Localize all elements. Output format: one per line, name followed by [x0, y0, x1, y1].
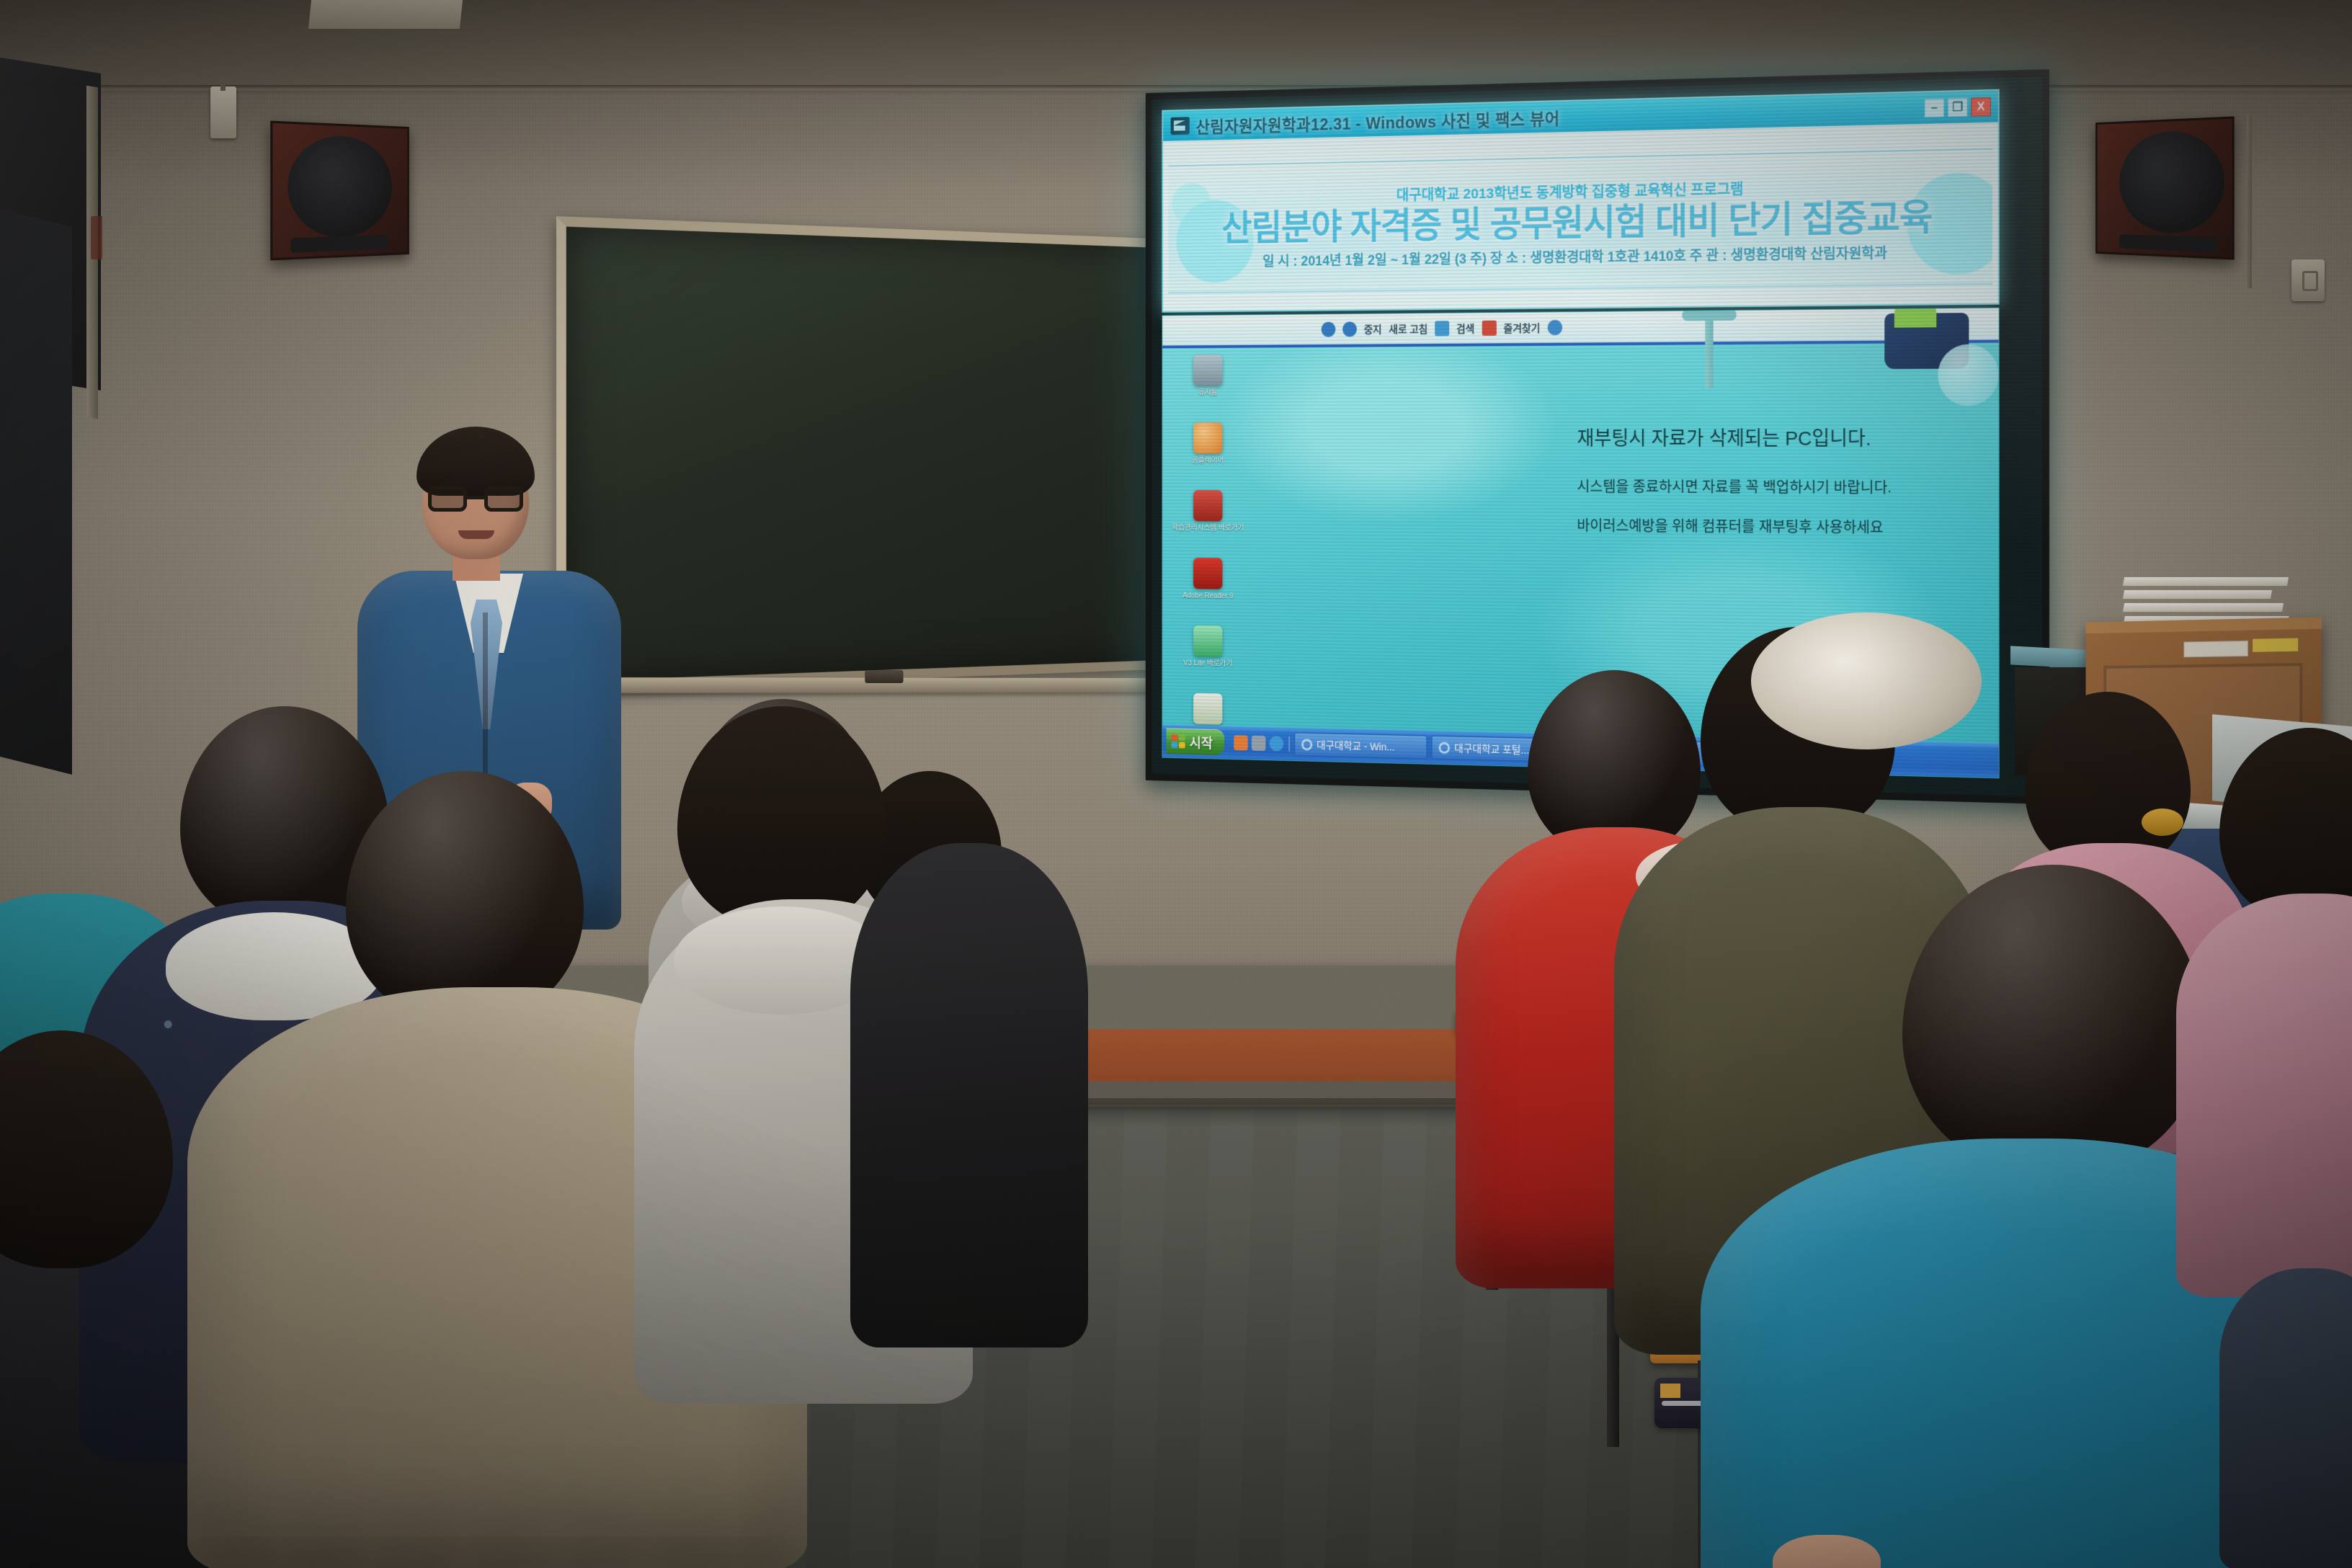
desktop-warning-text: 재부팅시 자료가 삭제되는 PC입니다. 시스템을 종료하시면 자료를 꼭 백업…: [1577, 423, 1990, 556]
quick-launch-bar[interactable]: [1229, 735, 1290, 752]
windows-flag-icon: [1171, 734, 1185, 748]
speaker-port: [2119, 234, 2217, 252]
photo-fax-viewer-icon: [1171, 117, 1190, 135]
microsoft-office-excel-icon: [1193, 693, 1222, 725]
korean-app-icon: [1193, 490, 1222, 521]
adobe-reader-icon: [1193, 558, 1222, 589]
viewer-body: 대구대학교 2013학년도 동계방학 집중형 교육혁신 프로그램 산림분야 자격…: [1163, 122, 1998, 313]
desktop-icon-gom-player[interactable]: 곰플레이어: [1167, 422, 1248, 465]
favorites-icon[interactable]: [1482, 321, 1496, 336]
desktop-icon-label: Adobe Reader 9: [1167, 592, 1248, 601]
banner-title: 산림분야 자격증 및 공무원시험 대비 단기 집중교육: [1221, 199, 1932, 246]
desktop-icon-list[interactable]: 휴지통 곰플레이어 학습관리시스템 바로가기 Adobe Reader 9 V3…: [1167, 355, 1248, 762]
desktop-icon-adobe-reader[interactable]: Adobe Reader 9: [1167, 558, 1248, 601]
book: [2122, 576, 2289, 587]
window-controls[interactable]: – ❐ X: [1925, 97, 1994, 117]
photo-fax-viewer-window[interactable]: 산림자원자원학과12.31 - Windows 사진 및 팩스 뷰어 – ❐ X…: [1162, 89, 1999, 313]
warning-line-2: 시스템을 종료하시면 자료를 꼭 백업하시기 바랍니다.: [1577, 475, 1990, 498]
desktop-icon-recycle-bin[interactable]: 휴지통: [1167, 355, 1248, 397]
book: [2122, 602, 2285, 612]
desktop-icon-label: V3 Lite 바로가기: [1167, 659, 1248, 669]
toolbar-label-4: 즐겨찾기: [1504, 321, 1541, 336]
banner-kicker: 대구대학교 2013학년도 동계방학 집중형 교육혁신 프로그램: [1396, 177, 1744, 205]
lectern-sticker: [2253, 638, 2298, 651]
student-right-edge-body: [2176, 894, 2352, 1297]
book: [2122, 589, 2273, 600]
back-icon[interactable]: [1322, 322, 1336, 337]
home-icon[interactable]: [1435, 321, 1449, 336]
speaker-port: [290, 235, 388, 253]
speaker-cone: [2119, 130, 2224, 235]
start-button-label: 시작: [1190, 732, 1213, 752]
desktop-icon-label: 휴지통: [1167, 388, 1248, 397]
history-icon[interactable]: [1548, 320, 1562, 335]
internet-explorer-icon[interactable]: [1270, 736, 1283, 751]
wallpaper-lamp: [1705, 311, 1713, 388]
toolbar-label-2: 새로 고침: [1389, 321, 1428, 336]
recycle-bin-icon: [1193, 355, 1222, 386]
speaker-left: [270, 121, 409, 261]
forward-icon[interactable]: [1342, 321, 1357, 337]
hair-tie: [2142, 808, 2183, 836]
browser-toolbar[interactable]: 중지 새로 고침 검색 즐겨찾기: [1162, 308, 1998, 349]
close-icon[interactable]: X: [1971, 97, 1991, 117]
glasses-icon: [428, 486, 523, 512]
wall-fixture: [210, 86, 236, 138]
fur-hood: [1751, 612, 1982, 749]
warning-line-3: 바이러스예방을 위해 컴퓨터를 재부팅후 사용하세요: [1577, 514, 1990, 538]
lectern-label-plate: [2183, 641, 2248, 658]
media-player-icon[interactable]: [1252, 736, 1265, 751]
pencil-case-tag: [1660, 1384, 1680, 1398]
viewer-title-text: 산림자원자원학과12.31 - Windows 사진 및 팩스 뷰어: [1196, 104, 1560, 137]
student-dark-center-body: [850, 843, 1088, 1347]
classroom-photo: 산림자원자원학과12.31 - Windows 사진 및 팩스 뷰어 – ❐ X…: [0, 0, 2352, 1568]
internet-explorer-icon: [1438, 741, 1449, 754]
taskbar-window-label: 대구대학교 포털...: [1454, 741, 1529, 757]
toolbar-label-1: 중지: [1364, 322, 1382, 337]
warning-line-1: 재부팅시 자료가 삭제되는 PC입니다.: [1577, 423, 1990, 452]
wall-switch-plate[interactable]: [2291, 259, 2325, 301]
wall-mark: [91, 216, 102, 259]
desktop-icon-label: 곰플레이어: [1167, 456, 1248, 465]
speaker-right: [2095, 116, 2235, 259]
taskbar-window-label: 대구대학교 - Win...: [1317, 737, 1394, 753]
desktop-icon-label: 학습관리시스템 바로가기: [1167, 524, 1248, 533]
internet-explorer-icon: [1301, 739, 1312, 750]
wallpaper-bubble: [1938, 344, 1998, 406]
minimize-button[interactable]: –: [1925, 99, 1944, 117]
gom-player-icon: [1193, 422, 1222, 453]
desktop-icon-v3[interactable]: V3 Lite 바로가기: [1167, 625, 1248, 669]
instructor-mouth: [458, 530, 494, 539]
program-banner-image: 대구대학교 2013학년도 동계방학 집중형 교육혁신 프로그램 산림분야 자격…: [1168, 148, 1992, 294]
blackboard: [556, 216, 1156, 692]
chalk-tray: [562, 677, 1156, 693]
wall-conduit: [2247, 115, 2252, 288]
taskbar-window-1[interactable]: 대구대학교 - Win...: [1294, 732, 1427, 759]
desktop-icon-korean-app[interactable]: 학습관리시스템 바로가기: [1167, 490, 1248, 533]
left-dark-panel: [0, 205, 72, 775]
toolbar-label-3: 검색: [1456, 321, 1474, 335]
ceiling-panel: [308, 0, 463, 29]
v3-antivirus-icon: [1193, 625, 1222, 657]
chalkboard-eraser[interactable]: [865, 670, 903, 683]
maximize-button[interactable]: ❐: [1948, 98, 1967, 117]
show-desktop-icon[interactable]: [1234, 735, 1247, 750]
speaker-cone: [288, 134, 392, 239]
start-button[interactable]: 시작: [1167, 729, 1224, 756]
